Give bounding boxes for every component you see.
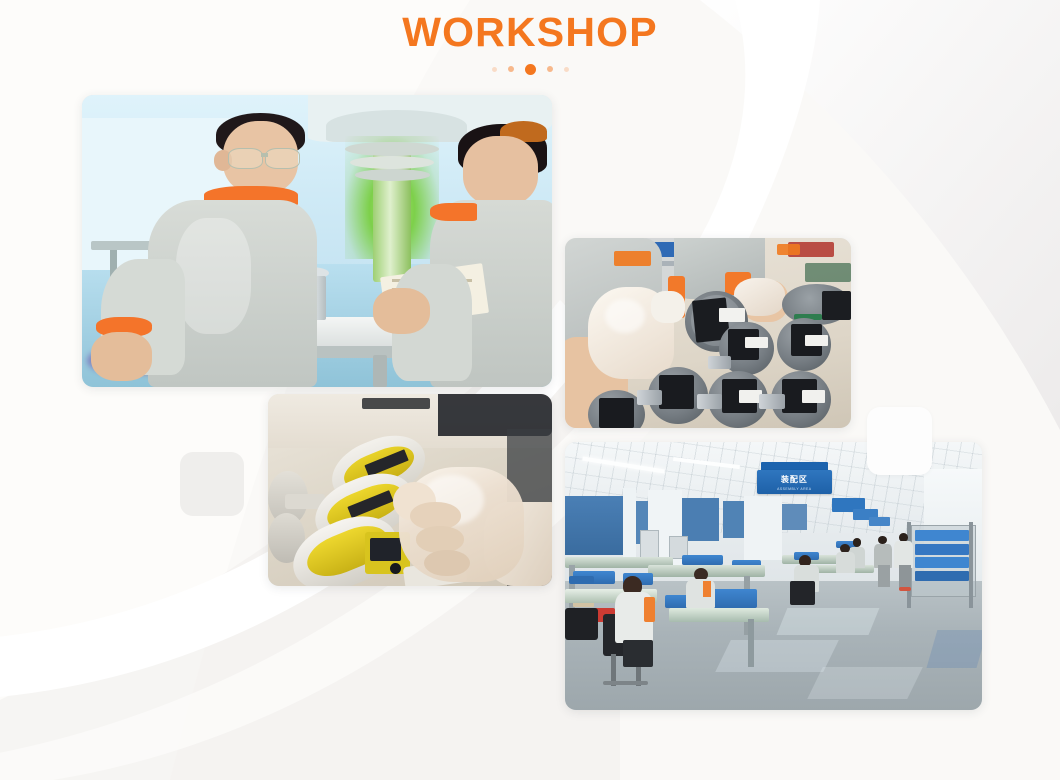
decorative-dot-icon-4 [547, 66, 553, 72]
title-dot-decoration [0, 63, 1060, 75]
photo-assembly-scene [565, 238, 851, 428]
assembly-area-sign-subtitle: ASSEMBLY AREA [757, 485, 832, 493]
workshop-page: WORKSHOP [0, 0, 1060, 780]
decorative-dot-icon-3 [525, 64, 536, 75]
photo-sensor-inspection[interactable] [268, 394, 552, 586]
photo-gauge-assembly[interactable] [565, 238, 851, 428]
decorative-dot-icon-2 [508, 66, 514, 72]
page-title: WORKSHOP [0, 8, 1060, 56]
decorative-square-left [180, 452, 244, 516]
photo-lab-calibration[interactable] [82, 95, 552, 387]
assembly-area-sign-title: 装配区 [757, 473, 832, 486]
photo-lab-scene [82, 95, 552, 387]
photo-factory-floor[interactable]: 装配区 ASSEMBLY AREA [565, 442, 982, 710]
decorative-dot-icon-1 [492, 67, 497, 72]
photo-floor-scene: 装配区 ASSEMBLY AREA [565, 442, 982, 710]
decorative-square-right [867, 407, 932, 475]
decorative-dot-icon-5 [564, 67, 569, 72]
photo-sensor-scene [268, 394, 552, 586]
page-header: WORKSHOP [0, 8, 1060, 75]
